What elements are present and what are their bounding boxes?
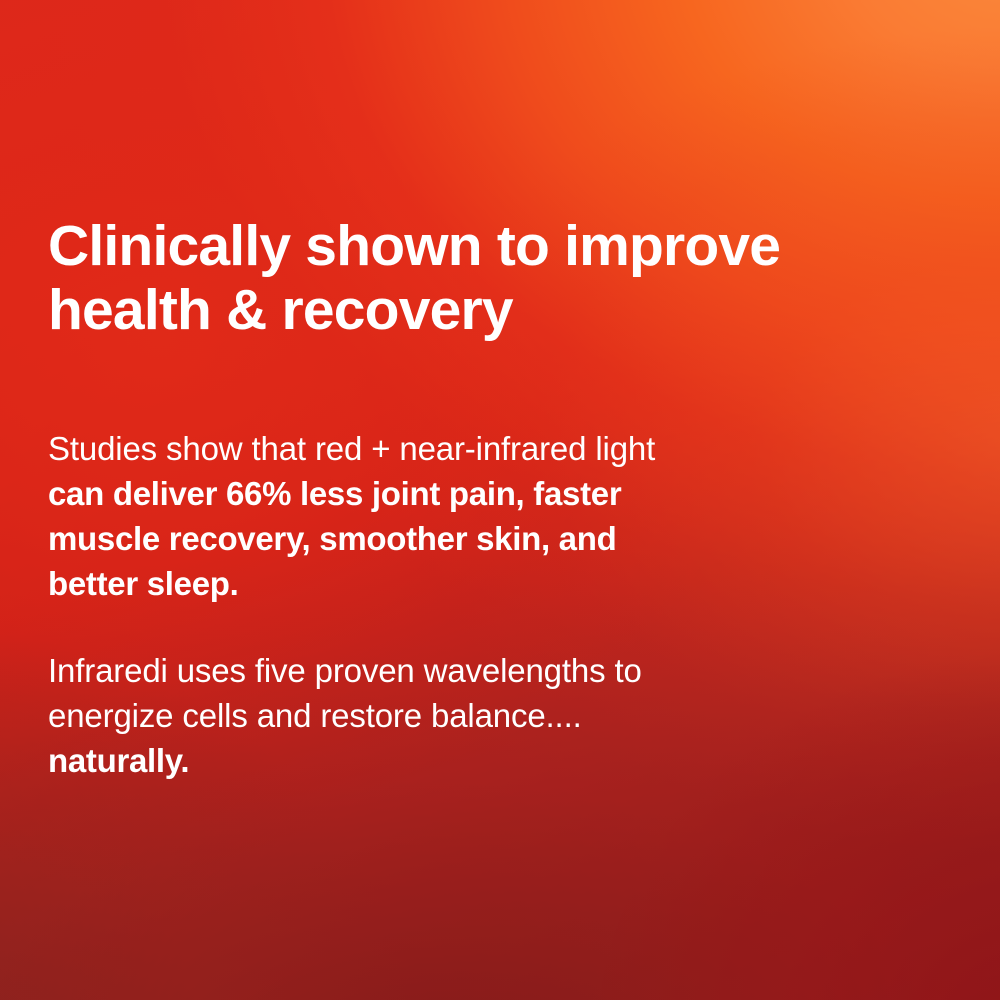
paragraph-one-line-3: muscle recovery, smoother skin, and [48, 516, 788, 561]
paragraph-two-line-3: naturally. [48, 738, 788, 783]
promo-poster: Clinically shown to improve health & rec… [0, 0, 1000, 1000]
headline-line-2: health & recovery [48, 278, 768, 342]
paragraph-one: Studies show that red + near-infrared li… [48, 426, 788, 606]
paragraph-two-line-1: Infraredi uses five proven wavelengths t… [48, 648, 788, 693]
headline: Clinically shown to improve health & rec… [48, 214, 768, 342]
headline-line-1: Clinically shown to improve [48, 214, 768, 278]
paragraph-two: Infraredi uses five proven wavelengths t… [48, 648, 788, 783]
paragraph-one-line-1: Studies show that red + near-infrared li… [48, 426, 788, 471]
paragraph-two-line-2: energize cells and restore balance.... [48, 693, 788, 738]
paragraph-one-line-4: better sleep. [48, 561, 788, 606]
paragraph-one-line-2: can deliver 66% less joint pain, faster [48, 471, 788, 516]
